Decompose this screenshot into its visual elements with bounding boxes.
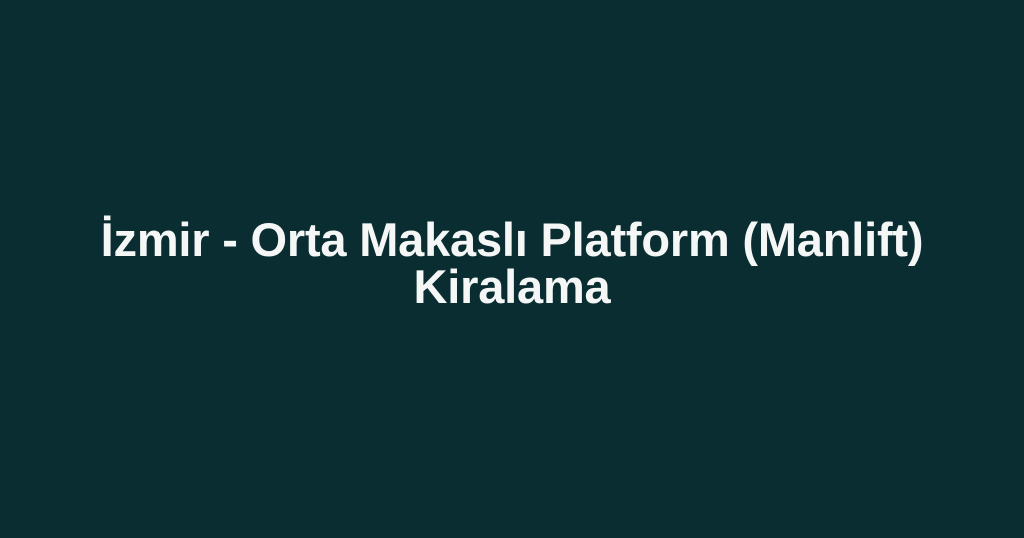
- page-title: İzmir - Orta Makaslı Platform (Manlift) …: [84, 216, 940, 310]
- share-card: İzmir - Orta Makaslı Platform (Manlift) …: [0, 0, 1024, 538]
